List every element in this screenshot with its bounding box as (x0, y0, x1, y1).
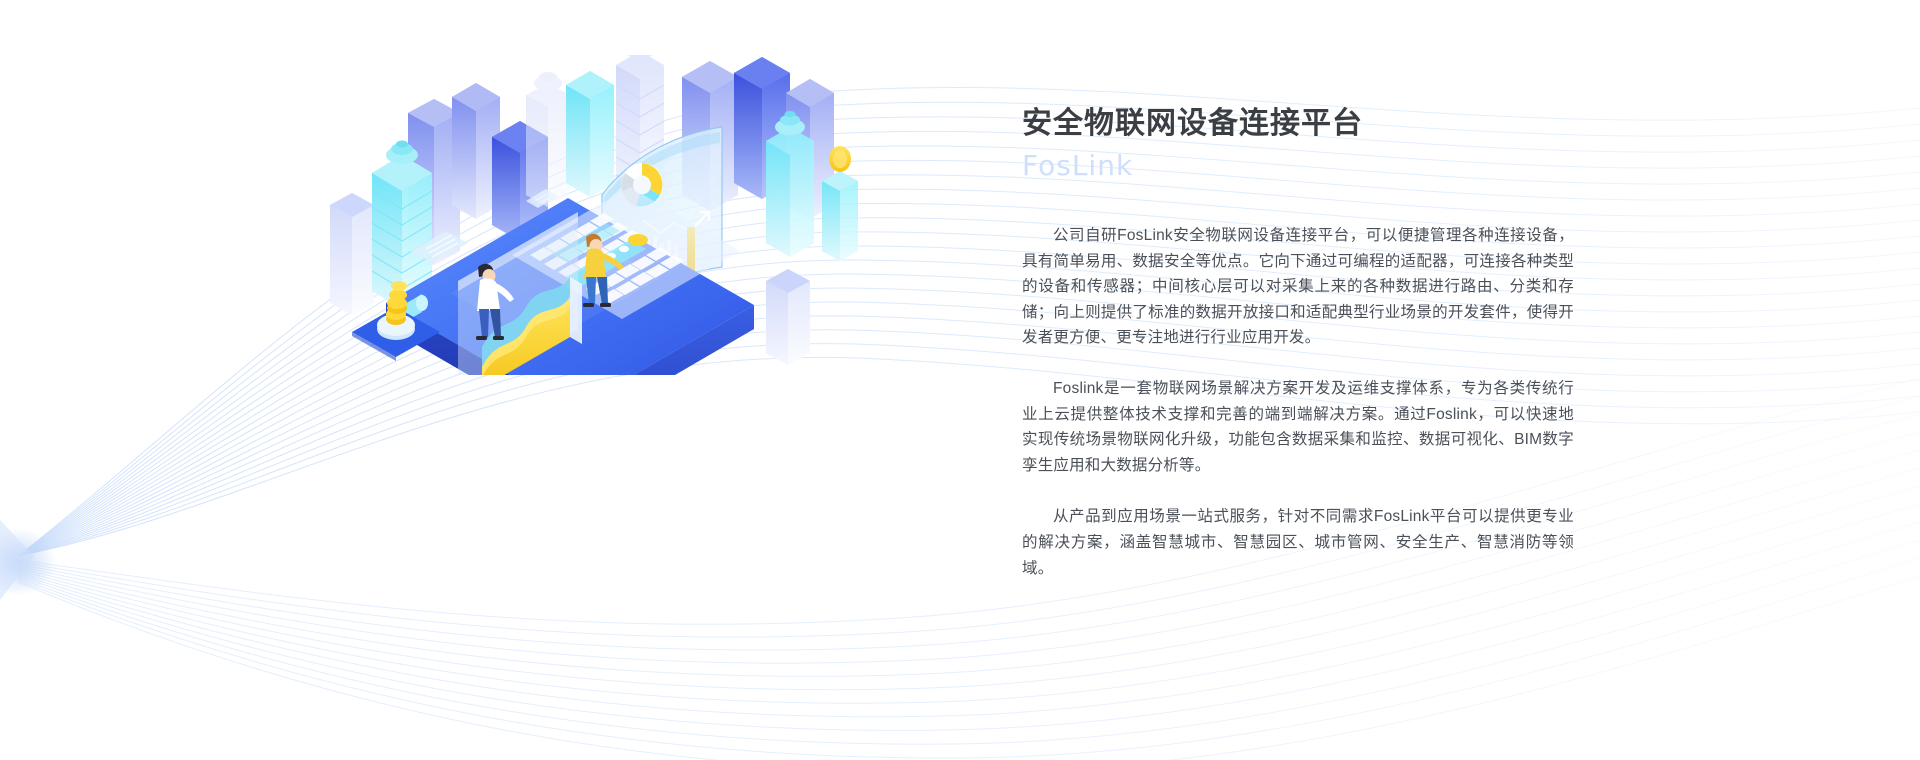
building-block-pale-right (766, 269, 810, 365)
hero-illustration (330, 55, 860, 375)
page-title: 安全物联网设备连接平台 (1022, 104, 1574, 144)
description-paragraph-2: Foslink是一套物联网场景解决方案开发及运维支撑体系，专为各类传统行业上云提… (1022, 376, 1574, 478)
building-block-violet-1 (330, 193, 374, 315)
page-subtitle: FosLink (1022, 148, 1574, 184)
hero-text-column: 安全物联网设备连接平台 FosLink 公司自研FosLink安全物联网设备连接… (1022, 104, 1574, 581)
description-paragraph-3: 从产品到应用场景一站式服务，针对不同需求FosLink平台可以提供更专业的解决方… (1022, 504, 1574, 581)
building-tower-cyan-slim (566, 71, 614, 197)
hero-section: 安全物联网设备连接平台 FosLink 公司自研FosLink安全物联网设备连接… (0, 0, 1920, 760)
grid-yellow-token (628, 234, 648, 246)
building-ghost-tower (526, 72, 570, 207)
description-paragraph-1: 公司自研FosLink安全物联网设备连接平台，可以便捷管理各种连接设备，具有简单… (1022, 223, 1574, 351)
background-wave-lines (0, 0, 1920, 760)
